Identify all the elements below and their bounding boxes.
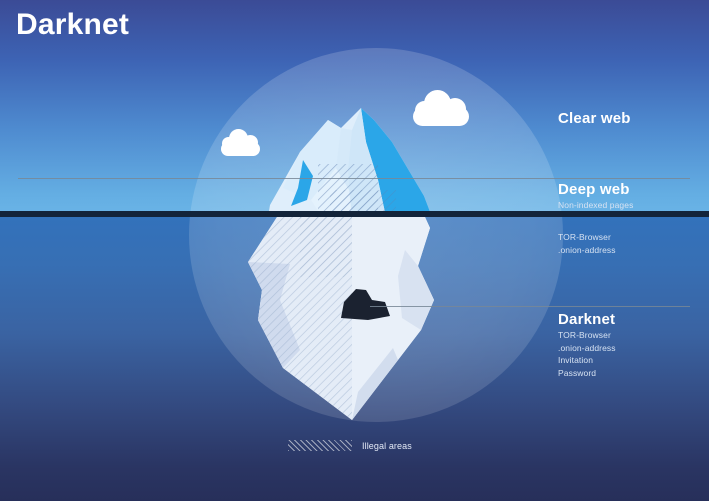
legend: Illegal areas xyxy=(288,440,412,451)
waterline xyxy=(0,211,709,217)
divider-clear-web xyxy=(18,178,690,179)
label-deep-web-subtitle: Non-indexed pages xyxy=(558,199,633,212)
iceberg-submerged-body xyxy=(248,217,434,420)
hatch-pattern-swatch-icon xyxy=(288,440,352,451)
darknet-requirements: TOR-Browser .onion-address Invitation Pa… xyxy=(558,329,616,379)
label-deep-web: Deep web xyxy=(558,181,630,198)
deep-web-requirements: TOR-Browser .onion-address xyxy=(558,231,616,256)
label-darknet: Darknet xyxy=(558,311,615,328)
legend-label: Illegal areas xyxy=(362,441,412,451)
divider-darknet xyxy=(370,306,690,307)
iceberg-tip xyxy=(268,108,432,220)
infographic-canvas: Darknet xyxy=(0,0,709,501)
label-clear-web: Clear web xyxy=(558,110,631,127)
